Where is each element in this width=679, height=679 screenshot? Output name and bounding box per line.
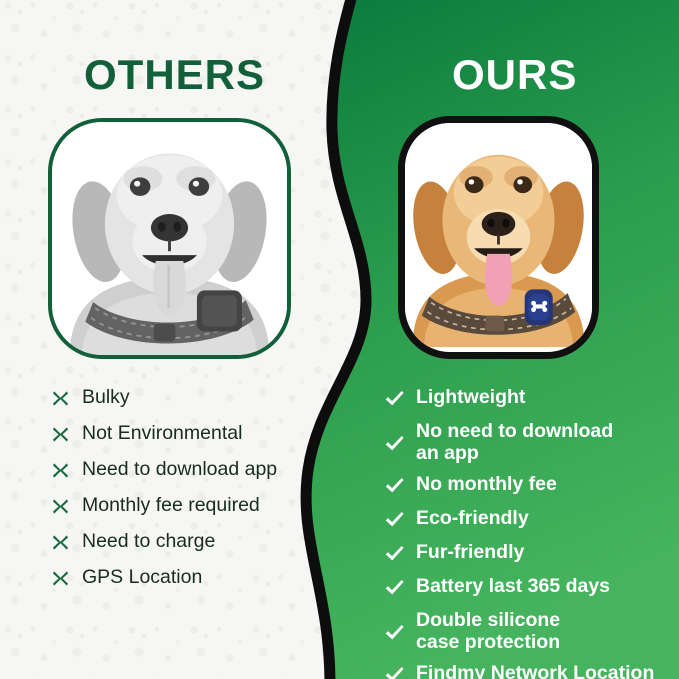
list-item-label: Lightweight [416, 386, 525, 408]
list-item-label: Battery last 365 days [416, 575, 610, 597]
list-item: Need to download app [48, 458, 318, 483]
list-item-label-multiline: No need to downloadan app [416, 420, 613, 464]
ours-feature-list: Lightweight No need to downloadan app No… [382, 386, 672, 679]
ours-photo-frame [398, 116, 599, 359]
list-item: Need to charge [48, 530, 318, 555]
check-mark-icon [382, 575, 407, 600]
list-item-label-multiline: Double siliconecase protection [416, 609, 560, 653]
list-item: GPS Location [48, 566, 318, 591]
list-item-label: Eco-friendly [416, 507, 529, 529]
x-mark-icon [48, 422, 73, 447]
list-item-label: Findmy Network Location [416, 662, 654, 679]
list-item-label: Monthly fee required [82, 494, 260, 516]
check-mark-icon [382, 662, 407, 679]
x-mark-icon [48, 530, 73, 555]
check-mark-icon [382, 473, 407, 498]
list-item-label: No monthly fee [416, 473, 557, 495]
list-item: Battery last 365 days [382, 575, 672, 600]
list-item: Fur-friendly [382, 541, 672, 566]
others-photo-frame [48, 118, 291, 359]
list-item: Bulky [48, 386, 318, 411]
ours-title: OURS [452, 54, 577, 96]
check-mark-icon [382, 541, 407, 566]
list-item-label-2: an app [416, 442, 479, 464]
list-item: Lightweight [382, 386, 672, 411]
list-item: Findmy Network Location [382, 662, 672, 679]
others-title: OTHERS [84, 54, 265, 96]
comparison-graphic: OTHERS OURS [0, 0, 679, 679]
x-mark-icon [48, 566, 73, 591]
list-item-label: Need to download app [82, 458, 277, 480]
list-item-label: Bulky [82, 386, 130, 408]
list-item: No need to downloadan app [382, 420, 672, 464]
list-item-label: GPS Location [82, 566, 202, 588]
others-feature-list: Bulky Not Environmental Need to download… [48, 386, 318, 602]
list-item: Double siliconecase protection [382, 609, 672, 653]
dog-photo-grayscale [52, 122, 287, 357]
check-mark-icon [382, 620, 407, 645]
list-item-label: No need to download [416, 420, 613, 442]
list-item: Not Environmental [48, 422, 318, 447]
check-mark-icon [382, 386, 407, 411]
x-mark-icon [48, 386, 73, 411]
list-item-label: Not Environmental [82, 422, 242, 444]
x-mark-icon [48, 458, 73, 483]
list-item-label: Need to charge [82, 530, 215, 552]
list-item: Eco-friendly [382, 507, 672, 532]
check-mark-icon [382, 507, 407, 532]
list-item: Monthly fee required [48, 494, 318, 519]
dog-photo-color [405, 123, 592, 347]
x-mark-icon [48, 494, 73, 519]
bone-tag-icon [525, 289, 553, 325]
list-item-label-2: case protection [416, 631, 560, 653]
check-mark-icon [382, 431, 407, 456]
list-item-label: Fur-friendly [416, 541, 524, 563]
list-item: No monthly fee [382, 473, 672, 498]
list-item-label: Double silicone [416, 609, 560, 631]
